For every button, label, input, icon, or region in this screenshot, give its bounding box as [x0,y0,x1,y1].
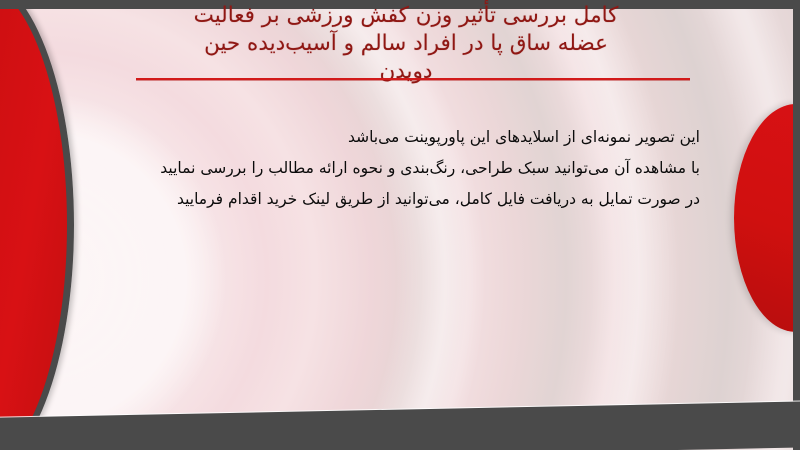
body-line-1: این تصویر نمونه‌ای از اسلایدهای این پاور… [100,122,700,153]
title-underline-rule [136,78,690,80]
slide-title: کامل بررسی تأثیر وزن کفش ورزشی بر فعالیت… [96,2,716,86]
presentation-slide: کامل بررسی تأثیر وزن کفش ورزشی بر فعالیت… [0,0,800,450]
body-line-2: با مشاهده آن می‌توانید سبک طراحی، رنگ‌بن… [100,153,700,184]
right-gray-band [793,0,800,450]
body-line-3: در صورت تمایل به دریافت فایل کامل، می‌تو… [100,184,700,215]
slide-body-text: این تصویر نمونه‌ای از اسلایدهای این پاور… [100,122,700,215]
